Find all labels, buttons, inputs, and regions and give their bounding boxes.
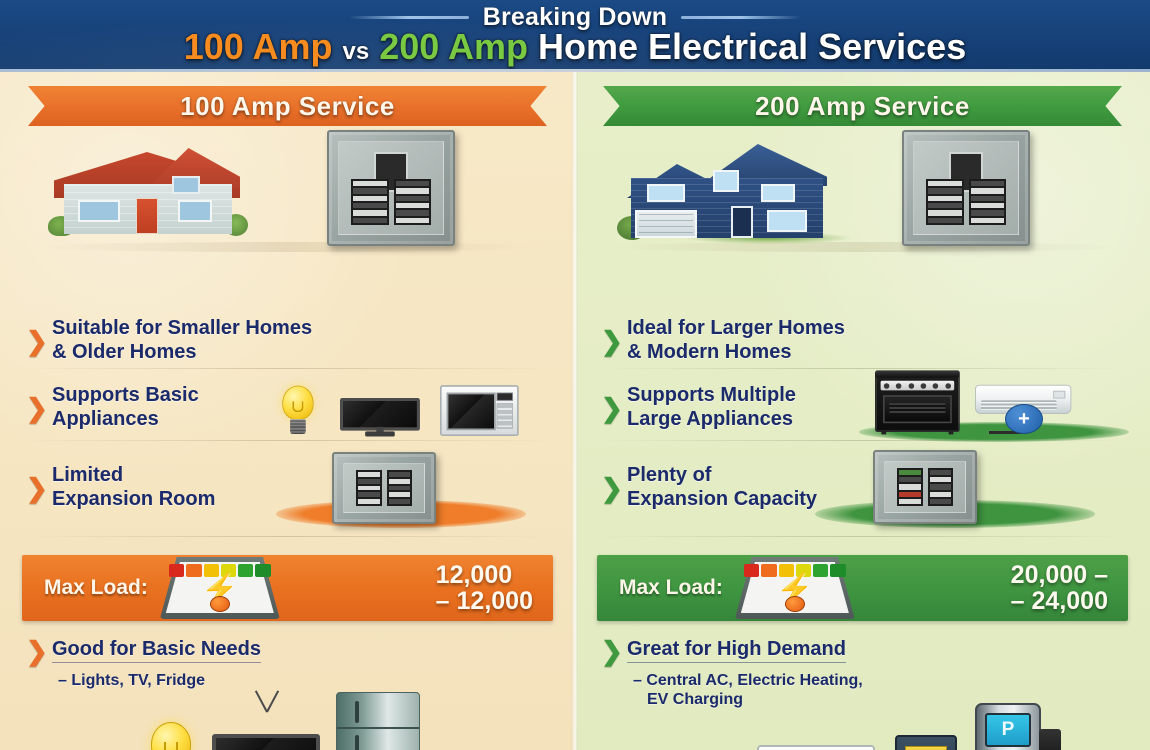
feature-text-200-3: Plenty of Expansion Capacity (627, 464, 817, 511)
ribbon-100-amp: 100 Amp Service (28, 86, 547, 126)
feature-text-200-1: Ideal for Larger Homes & Modern Homes (627, 317, 845, 364)
summary-subtitle-200: – Central AC, Electric Heating, EV Charg… (633, 671, 1150, 709)
summary-head-200: ❯ Great for High Demand (575, 638, 1150, 664)
feature-line2: Appliances (52, 408, 199, 432)
feature-icons-100-3 (260, 446, 560, 530)
electrical-panel-icon (327, 130, 455, 246)
feature-row-200-1: ❯ Ideal for Larger Homes & Modern Homes (575, 310, 1150, 372)
title-vs: vs (343, 38, 370, 65)
breaker-panel-icon (332, 452, 436, 524)
summary-200: ❯ Great for High Demand – Central AC, El… (575, 638, 1150, 750)
television-icon (212, 714, 320, 750)
feature-divider-200-3 (597, 536, 1128, 537)
feature-divider-100-2 (22, 440, 553, 441)
summary-icons-100 (0, 694, 575, 750)
lightbulb-icon (280, 386, 316, 434)
ribbon-label-200-amp: 200 Amp Service (755, 91, 970, 122)
summary-title-100: Good for Basic Needs (52, 638, 261, 663)
hero-200-amp (575, 130, 1150, 258)
plug-icon (1005, 404, 1043, 434)
max-load-value-line2: – 12,000 (436, 588, 533, 615)
ev-charger-icon (975, 703, 1041, 750)
ribbon-200-amp: 200 Amp Service (603, 86, 1122, 126)
feature-line2: Expansion Room (52, 488, 215, 512)
comparison-body: 100 Amp Service (0, 72, 1150, 750)
feature-text-100-2: Supports Basic Appliances (52, 384, 199, 431)
electrical-panel-icon (902, 130, 1030, 246)
feature-icons-200-3 (805, 446, 1125, 530)
infographic-page: Breaking Down 100 Amp vs 200 Amp Home El… (0, 0, 1150, 750)
summary-subtitle-line1: – Central AC, Electric Heating, (633, 671, 1150, 690)
page-header: Breaking Down 100 Amp vs 200 Amp Home El… (0, 0, 1150, 72)
max-load-bar-100: Max Load: ⚡ 12,000 – 12,000 (22, 555, 553, 621)
max-load-value-line1: 20,000 – (1011, 562, 1108, 589)
summary-subtitle-100: – Lights, TV, Fridge (58, 671, 575, 690)
max-load-value-line1: 12,000 (436, 562, 533, 589)
chevron-right-icon: ❯ (26, 638, 48, 664)
feature-line2: Expansion Capacity (627, 488, 817, 512)
summary-subtitle-line2: EV Charging (647, 690, 1150, 709)
feature-line1: Limited (52, 464, 215, 488)
hero-ground-line (30, 242, 545, 252)
max-load-label-200: Max Load: (619, 576, 723, 600)
microwave-icon (440, 385, 519, 436)
ribbon-label-100-amp: 100 Amp Service (180, 91, 395, 122)
breaker-panel-icon (873, 450, 977, 524)
chevron-right-icon: ❯ (601, 395, 623, 421)
feature-line2: & Modern Homes (627, 341, 845, 365)
feature-divider-100-1 (22, 368, 553, 369)
feature-line2: & Older Homes (52, 341, 312, 365)
summary-title-200: Great for High Demand (627, 638, 846, 663)
electric-heater-icon (895, 735, 957, 750)
title-rest: Home Electrical Services (538, 26, 966, 67)
title-100amp: 100 Amp (184, 26, 333, 67)
column-100-amp: 100 Amp Service (0, 72, 575, 750)
feature-icons-200-2 (855, 372, 1150, 442)
feature-line1: Plenty of (627, 464, 817, 488)
feature-line1: Ideal for Larger Homes (627, 317, 845, 341)
max-load-label-100: Max Load: (44, 576, 148, 600)
chevron-right-icon: ❯ (26, 475, 48, 501)
hero-ground-line (605, 242, 1120, 252)
feature-line1: Supports Basic (52, 384, 199, 408)
chevron-right-icon: ❯ (26, 328, 48, 354)
feature-line1: Suitable for Smaller Homes (52, 317, 312, 341)
summary-head-100: ❯ Good for Basic Needs (0, 638, 575, 664)
feature-divider-200-2 (597, 440, 1128, 441)
max-load-value-200: 20,000 – – 24,000 (1011, 562, 1108, 615)
chevron-right-icon: ❯ (26, 395, 48, 421)
lightbulb-icon (148, 722, 194, 750)
feature-line2: Large Appliances (627, 408, 796, 432)
feature-row-100-1: ❯ Suitable for Smaller Homes & Older Hom… (0, 310, 575, 372)
hero-100-amp (0, 130, 575, 258)
summary-icons-200 (575, 713, 1150, 750)
load-gauge-icon: ⚡ (735, 557, 855, 619)
title-200amp: 200 Amp (379, 26, 528, 67)
feature-icons-100-2 (270, 372, 570, 442)
load-gauge-icon: ⚡ (160, 557, 280, 619)
two-story-house-icon (627, 142, 827, 242)
feature-text-100-3: Limited Expansion Room (52, 464, 215, 511)
stove-icon (875, 374, 960, 432)
ac-condenser-icon (757, 745, 875, 750)
feature-text-200-2: Supports Multiple Large Appliances (627, 384, 796, 431)
kicker-rule-right (681, 16, 801, 19)
page-title: 100 Amp vs 200 Amp Home Electrical Servi… (0, 26, 1150, 68)
feature-text-100-1: Suitable for Smaller Homes & Older Homes (52, 317, 312, 364)
column-200-amp: 200 Amp Service (575, 72, 1150, 750)
single-story-house-icon (52, 148, 242, 240)
kicker-rule-left (349, 16, 469, 19)
feature-divider-200-1 (597, 368, 1128, 369)
chevron-right-icon: ❯ (601, 328, 623, 354)
max-load-bar-200: Max Load: ⚡ 20,000 – – 24,000 (597, 555, 1128, 621)
max-load-value-line2: – 24,000 (1011, 588, 1108, 615)
refrigerator-icon (336, 692, 420, 750)
television-icon (340, 383, 420, 438)
feature-line1: Supports Multiple (627, 384, 796, 408)
summary-100: ❯ Good for Basic Needs – Lights, TV, Fri… (0, 638, 575, 750)
chevron-right-icon: ❯ (601, 638, 623, 664)
feature-divider-100-3 (22, 536, 553, 537)
max-load-value-100: 12,000 – 12,000 (436, 562, 533, 615)
chevron-right-icon: ❯ (601, 475, 623, 501)
